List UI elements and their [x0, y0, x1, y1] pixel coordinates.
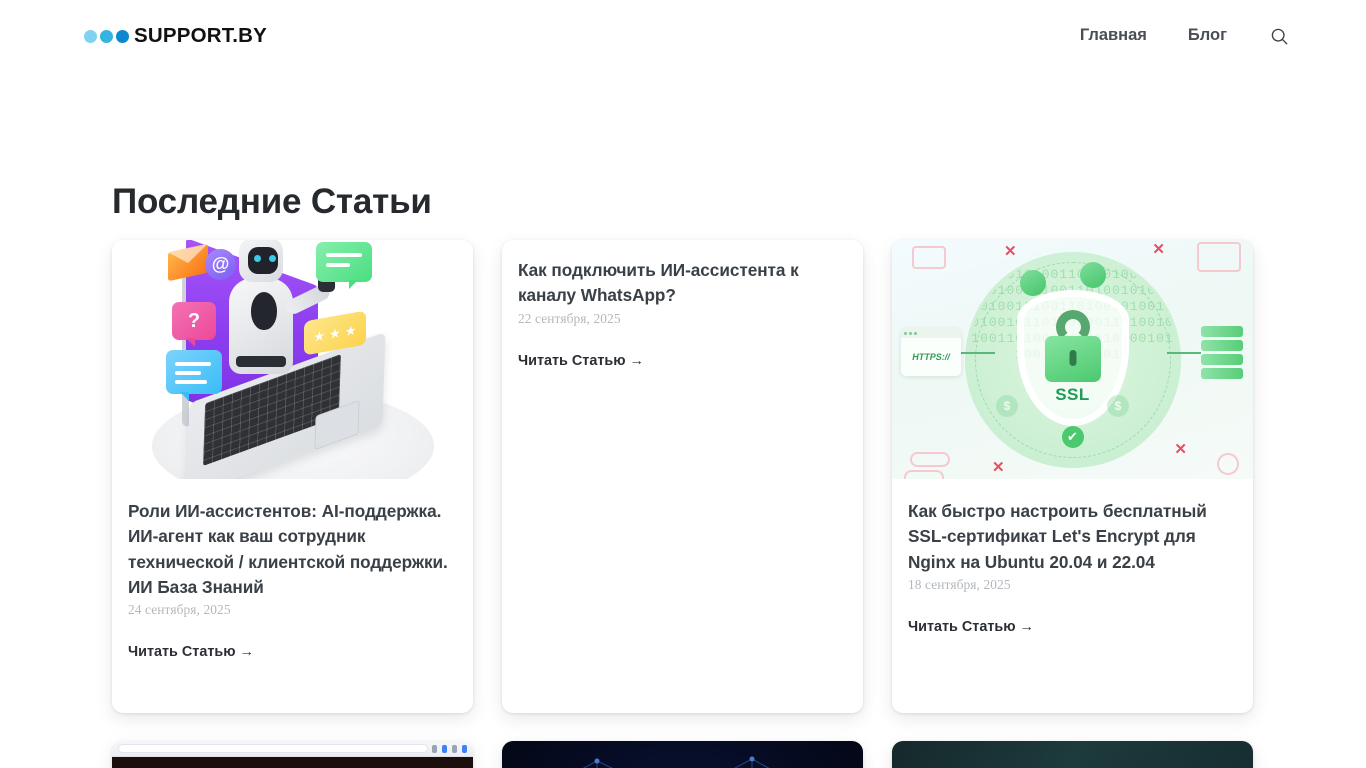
server-stack-icon [1201, 326, 1243, 379]
browser-url-field [118, 744, 428, 753]
at-symbol-icon: @ [205, 249, 236, 280]
browser-toolbar-icons [432, 745, 467, 753]
article-card[interactable] [892, 741, 1253, 768]
article-card[interactable]: @ ? ★ ★ ★ Роли ИИ-ассистентов: AI-поддер… [112, 240, 473, 713]
question-bubble-icon: ? [172, 302, 216, 340]
article-card[interactable]: 1010010100110010100011010010010100110100… [892, 240, 1253, 713]
https-label: HTTPS:// [901, 352, 961, 362]
main-nav: Главная Блог [1080, 25, 1290, 47]
card-body: Роли ИИ-ассистентов: AI-поддержка. ИИ-аг… [112, 479, 473, 660]
brand-logo[interactable]: SUPPORT.BY [84, 26, 267, 47]
pink-window-outline-icon [1197, 242, 1241, 272]
article-card[interactable]: Как подключить ИИ-ассистента к каналу Wh… [502, 240, 863, 713]
pink-envelope-outline-icon [912, 246, 946, 269]
card-body: Как подключить ИИ-ассистента к каналу Wh… [502, 240, 863, 369]
browser-dark-strip [112, 757, 473, 768]
chat-chip-icon [1020, 270, 1046, 296]
x-mark-icon: ✕ [1004, 244, 1017, 259]
card-title: Роли ИИ-ассистентов: AI-поддержка. ИИ-аг… [128, 499, 457, 600]
nav-link-blog[interactable]: Блог [1188, 25, 1227, 46]
card-title: Как быстро настроить бесплатный SSL-серт… [908, 499, 1237, 575]
card-date: 18 сентября, 2025 [908, 577, 1237, 593]
browser-titlebar [901, 328, 961, 338]
connection-wire-left [961, 352, 995, 354]
x-mark-icon: ✕ [992, 460, 1005, 475]
chat-bubble-cyan-icon [166, 350, 222, 394]
robot-eye-left [254, 255, 261, 262]
article-card-grid: @ ? ★ ★ ★ Роли ИИ-ассистентов: AI-поддер… [112, 240, 1254, 768]
x-mark-icon: ✕ [1174, 442, 1187, 457]
brand-dot-1 [84, 30, 97, 43]
read-more-link[interactable]: Читать Статью → [128, 644, 457, 660]
pink-avatar-outline-icon [1217, 453, 1239, 475]
article-card[interactable] [112, 741, 473, 768]
connection-wire-right [1167, 352, 1201, 354]
dollar-coin-icon: $ [1107, 395, 1129, 417]
card-date: 24 сентября, 2025 [128, 602, 457, 618]
search-icon[interactable] [1268, 25, 1290, 47]
dark-mountain-peak-photo [892, 741, 1253, 768]
lock-keyhole [1069, 350, 1076, 366]
card-title: Как подключить ИИ-ассистента к каналу Wh… [518, 258, 847, 309]
brand-name: SUPPORT.BY [134, 26, 267, 47]
robot-belt [236, 356, 286, 367]
pink-password-pill-icon [904, 470, 944, 479]
site-header: SUPPORT.BY Главная Блог [0, 0, 1366, 73]
browser-address-bar [112, 741, 473, 757]
ssl-label: SSL [1055, 385, 1090, 405]
chat-bubble-green-icon [316, 242, 372, 282]
x-mark-icon: ✕ [1152, 242, 1165, 257]
browser-window-screenshot [112, 741, 473, 768]
read-more-link[interactable]: Читать Статью → [908, 619, 1237, 635]
read-more-link[interactable]: Читать Статью → [518, 353, 847, 369]
brand-dots-icon [84, 30, 129, 43]
https-browser-window: HTTPS:// [901, 328, 961, 376]
pink-password-pill-icon [910, 452, 950, 467]
dollar-coin-icon: $ [996, 395, 1018, 417]
card-body: Как быстро настроить бесплатный SSL-серт… [892, 479, 1253, 635]
page-title: Последние Статьи [112, 181, 432, 222]
robot-eye-right [269, 255, 276, 262]
brand-dot-2 [100, 30, 113, 43]
card-date: 22 сентября, 2025 [518, 311, 847, 327]
dark-network-nodes-graphic [502, 741, 863, 768]
article-card[interactable] [502, 741, 863, 768]
card-chip-icon [1080, 262, 1106, 288]
ssl-shield-lock-illustration: 1010010100110010100011010010010100110100… [892, 240, 1253, 479]
nav-link-home[interactable]: Главная [1080, 25, 1147, 46]
ai-robot-laptop-illustration: @ ? ★ ★ ★ [112, 240, 473, 479]
page-root: SUPPORT.BY Главная Блог Последние Статьи [0, 0, 1366, 768]
check-badge-icon: ✔ [1062, 426, 1084, 448]
brand-dot-3 [116, 30, 129, 43]
robot-chest [251, 292, 277, 330]
